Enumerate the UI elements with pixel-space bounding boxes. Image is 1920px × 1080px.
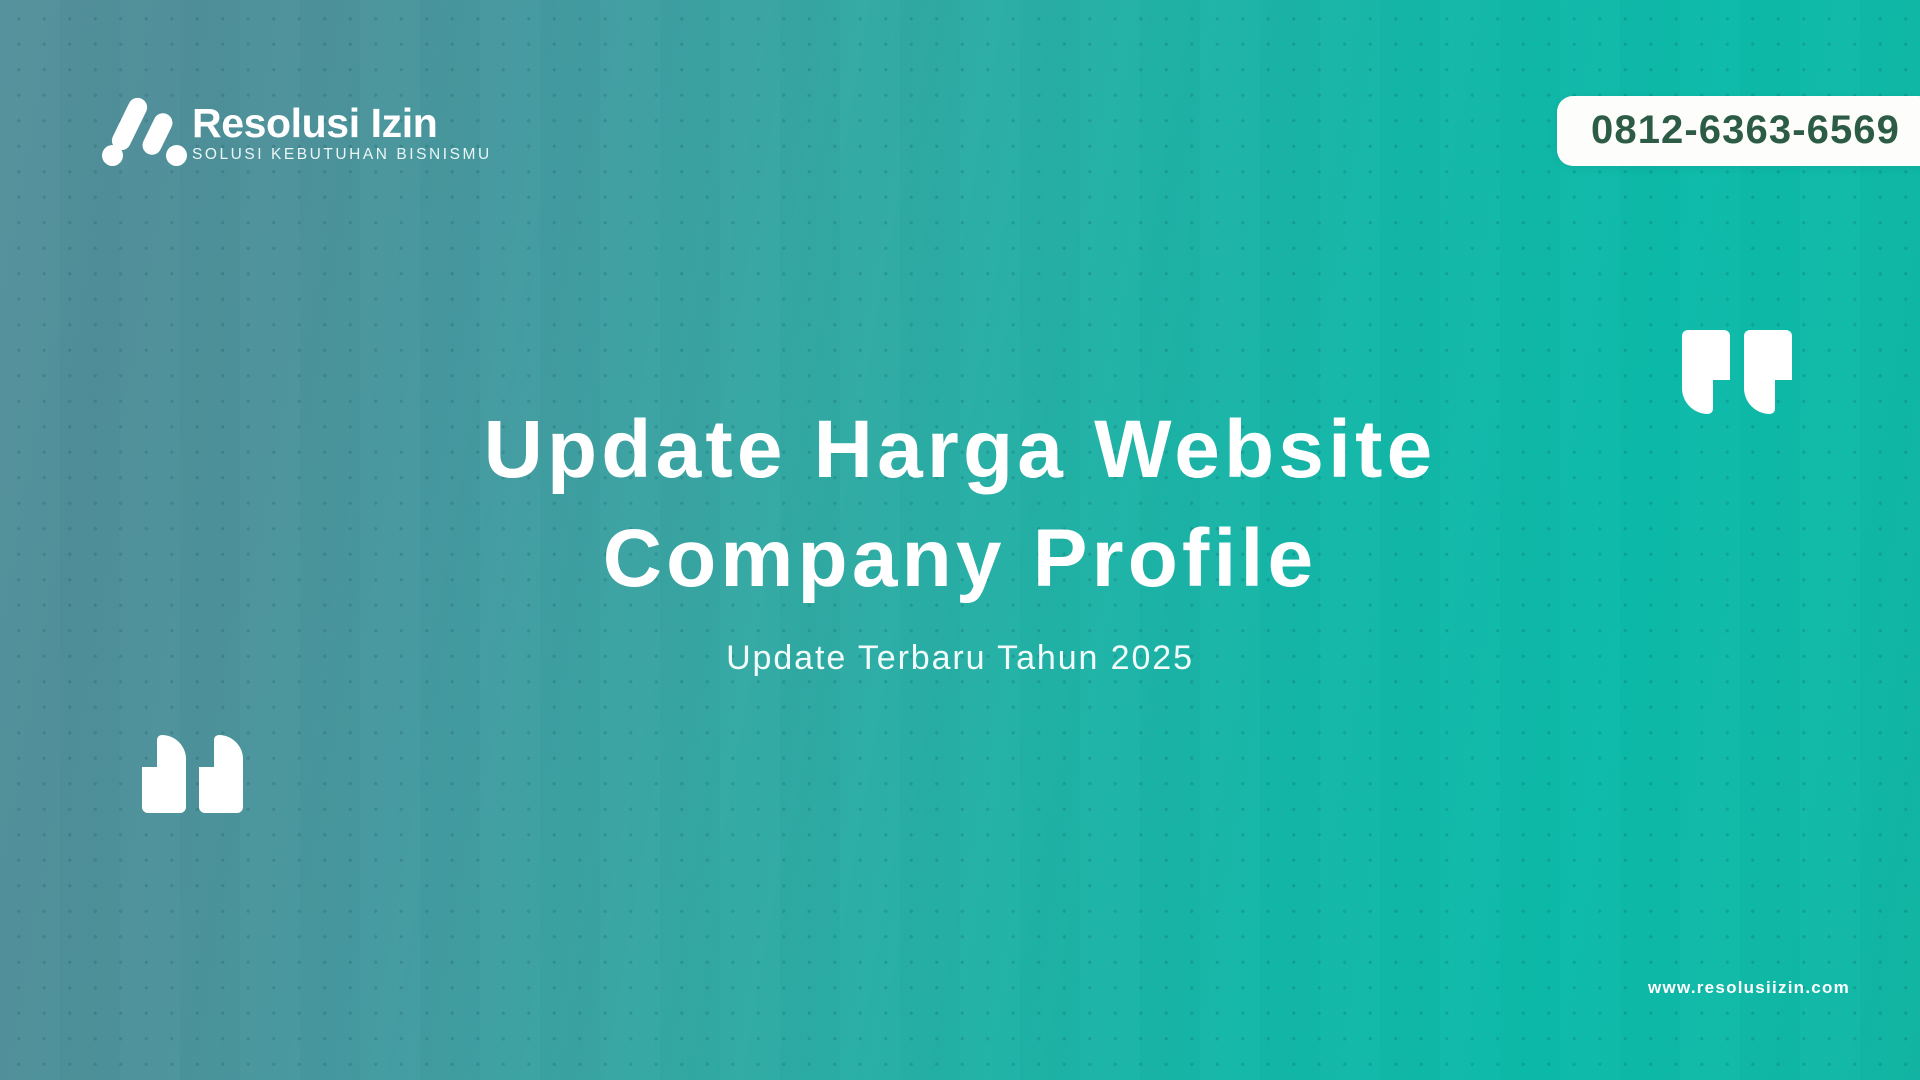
brand-tagline: SOLUSI KEBUTUHAN BISNISMU: [192, 146, 492, 164]
resolusi-izin-mark-icon: [104, 98, 178, 164]
open-quote-glyph-2: [199, 735, 243, 813]
brand-name: Resolusi Izin: [192, 103, 492, 143]
open-quote-icon: [142, 735, 243, 813]
logo-dot-left: [102, 145, 123, 166]
website-url[interactable]: www.resolusiizin.com: [1648, 978, 1850, 998]
brand-logo[interactable]: Resolusi Izin SOLUSI KEBUTUHAN BISNISMU: [104, 98, 492, 164]
promo-banner: Resolusi Izin SOLUSI KEBUTUHAN BISNISMU …: [0, 0, 1920, 1080]
hero-subtitle: Update Terbaru Tahun 2025: [0, 639, 1920, 678]
brand-logo-text: Resolusi Izin SOLUSI KEBUTUHAN BISNISMU: [192, 103, 492, 164]
phone-badge[interactable]: 0812-6363-6569: [1557, 96, 1920, 166]
hero-headline: Update Harga Website Company Profile Upd…: [0, 395, 1920, 678]
open-quote-glyph-1: [142, 735, 186, 813]
hero-title-line-2: Company Profile: [0, 504, 1920, 613]
hero-title-line-1: Update Harga Website: [0, 395, 1920, 504]
phone-number: 0812-6363-6569: [1591, 110, 1900, 150]
logo-dot-right: [166, 145, 187, 166]
